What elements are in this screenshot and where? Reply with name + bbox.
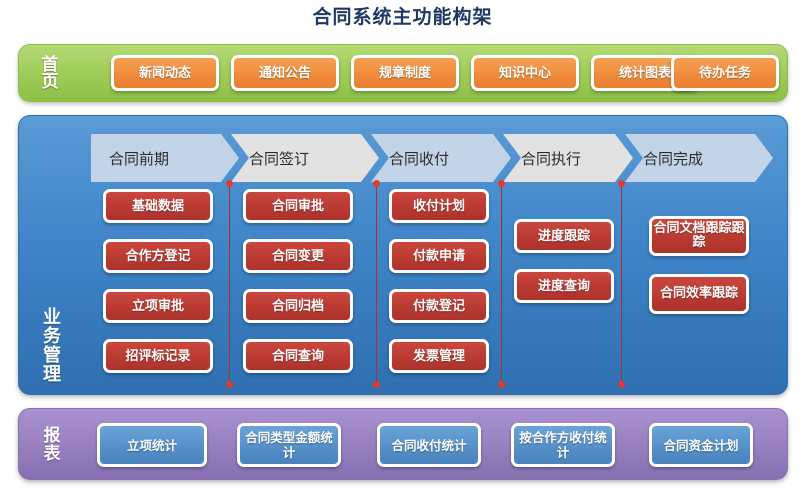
report-section-label: 报 表: [41, 427, 63, 463]
column-divider-1: [229, 184, 230, 384]
home-item-knowledge[interactable]: 知识中心: [471, 55, 579, 91]
business-label-char-0: 业: [41, 308, 63, 327]
stage-chevron-completion[interactable]: 合同完成: [625, 134, 773, 182]
home-item-regulations[interactable]: 规章制度: [351, 55, 459, 91]
module-efficiency-track[interactable]: 合同效率跟踪: [649, 274, 749, 314]
module-contract-archive[interactable]: 合同归档: [243, 289, 353, 323]
home-section-panel: 首 页 新闻动态 通知公告 规章制度 知识中心 统计图表 待办任务: [18, 44, 788, 102]
stage-chevron-signing[interactable]: 合同签订: [231, 134, 379, 182]
business-section-panel: 业 务 管 理 合同前期 合同签订 合同收付 合同执行 合同完成 基础数据 合作…: [18, 115, 788, 395]
module-document-track[interactable]: 合同文档跟踪跟踪: [649, 216, 749, 256]
home-section-label: 首 页: [39, 57, 61, 91]
module-project-approval[interactable]: 立项审批: [103, 289, 213, 323]
module-invoice-manage[interactable]: 发票管理: [389, 339, 489, 373]
module-payment-register[interactable]: 付款登记: [389, 289, 489, 323]
column-divider-2: [376, 184, 377, 384]
report-item-fund-plan[interactable]: 合同资金计划: [649, 423, 753, 467]
business-label-char-3: 理: [41, 365, 63, 384]
report-item-partner-payment[interactable]: 按合作方收付统计: [511, 423, 615, 467]
business-label-char-1: 务: [41, 327, 63, 346]
home-item-news[interactable]: 新闻动态: [111, 55, 219, 91]
report-item-project-stats[interactable]: 立项统计: [97, 423, 207, 467]
module-contract-change[interactable]: 合同变更: [243, 239, 353, 273]
report-label-char-1: 表: [41, 445, 63, 463]
module-contract-query[interactable]: 合同查询: [243, 339, 353, 373]
business-section-label: 业 务 管 理: [41, 308, 63, 384]
column-divider-3: [501, 184, 502, 384]
stage-chevron-pre-contract[interactable]: 合同前期: [91, 134, 239, 182]
stage-chevron-payment[interactable]: 合同收付: [371, 134, 511, 182]
report-item-contract-type-amount[interactable]: 合同类型金额统计: [237, 423, 341, 467]
module-partner-register[interactable]: 合作方登记: [103, 239, 213, 273]
business-label-char-2: 管: [41, 346, 63, 365]
module-payment-request[interactable]: 付款申请: [389, 239, 489, 273]
stage-chevron-execution[interactable]: 合同执行: [503, 134, 633, 182]
page-title: 合同系统主功能构架: [0, 4, 805, 30]
report-item-payment-stats[interactable]: 合同收付统计: [377, 423, 481, 467]
module-progress-query[interactable]: 进度查询: [514, 269, 614, 303]
module-payment-plan[interactable]: 收付计划: [389, 189, 489, 223]
module-basic-data[interactable]: 基础数据: [103, 189, 213, 223]
home-item-notice[interactable]: 通知公告: [231, 55, 339, 91]
home-label-char-1: 页: [39, 74, 61, 91]
column-divider-4: [621, 184, 622, 384]
module-contract-approval[interactable]: 合同审批: [243, 189, 353, 223]
home-item-todo[interactable]: 待办任务: [671, 55, 779, 91]
module-progress-track[interactable]: 进度跟踪: [514, 219, 614, 253]
module-bidding-record[interactable]: 招评标记录: [103, 339, 213, 373]
report-label-char-0: 报: [41, 427, 63, 445]
report-section-panel: 报 表 立项统计 合同类型金额统计 合同收付统计 按合作方收付统计 合同资金计划: [18, 408, 788, 480]
